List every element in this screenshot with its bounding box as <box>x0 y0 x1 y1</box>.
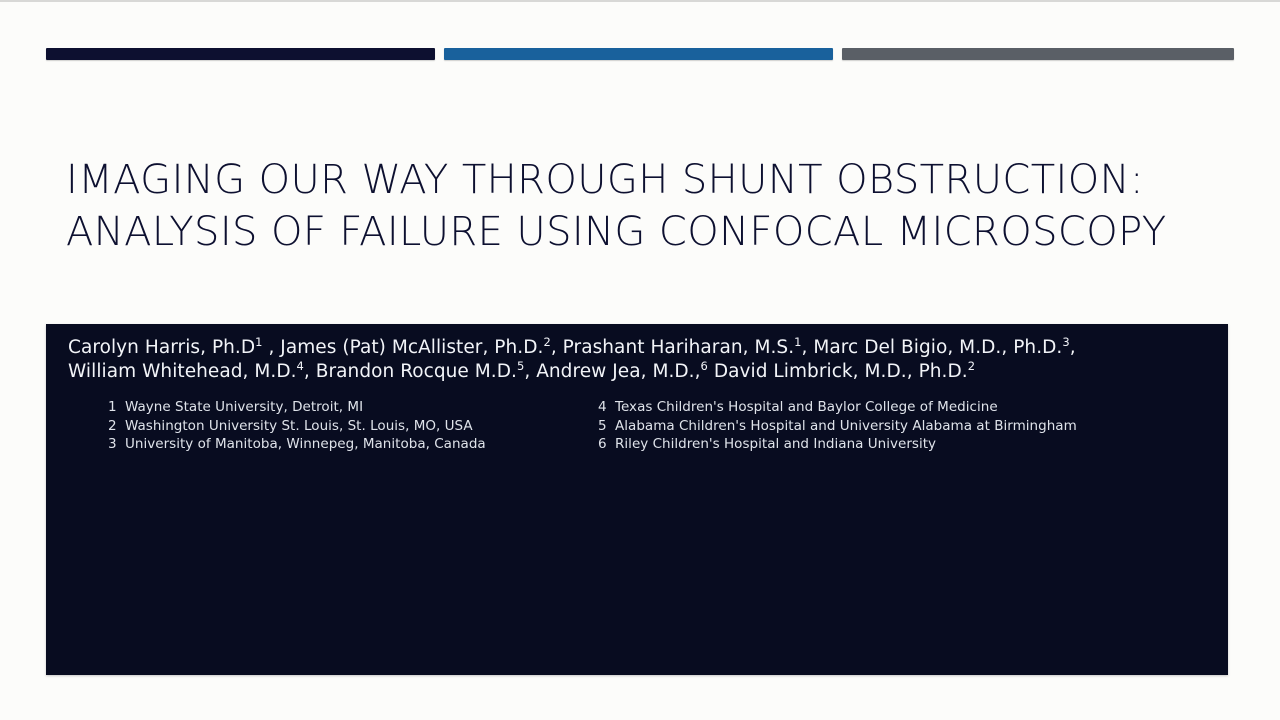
affiliation-text: Washington University St. Louis, St. Lou… <box>125 417 598 436</box>
affiliation-number: 4 <box>598 398 615 417</box>
author-list: Carolyn Harris, Ph.D1 , James (Pat) McAl… <box>68 336 1206 384</box>
affiliation-marker: 6 <box>701 359 708 373</box>
affiliation-number: 6 <box>598 435 615 454</box>
affiliation-marker: 2 <box>543 335 550 349</box>
affiliation-text: Alabama Children's Hospital and Universi… <box>615 417 1158 436</box>
navy-bar <box>46 48 435 60</box>
affiliation-number: 3 <box>108 435 125 454</box>
affiliation-text: Riley Children's Hospital and Indiana Un… <box>615 435 1158 454</box>
list-item: 2 Washington University St. Louis, St. L… <box>108 417 598 436</box>
affiliation-marker: 1 <box>255 335 262 349</box>
affiliation-text: University of Manitoba, Winnepeg, Manito… <box>125 435 598 454</box>
list-item: 1 Wayne State University, Detroit, MI <box>108 398 598 417</box>
affiliation-number: 5 <box>598 417 615 436</box>
affiliation-marker: 3 <box>1062 335 1069 349</box>
decorative-rule-bars <box>46 48 1234 61</box>
author-panel: Carolyn Harris, Ph.D1 , James (Pat) McAl… <box>46 324 1228 675</box>
affiliation-number: 2 <box>108 417 125 436</box>
affiliation-column-left: 1 Wayne State University, Detroit, MI 2 … <box>108 398 598 454</box>
affiliation-text: Texas Children's Hospital and Baylor Col… <box>615 398 1158 417</box>
presentation-slide: IMAGING OUR WAY THROUGH SHUNT OBSTRUCTIO… <box>0 0 1280 720</box>
title-line-1: IMAGING OUR WAY THROUGH SHUNT OBSTRUCTIO… <box>66 154 1216 206</box>
affiliation-marker: 5 <box>517 359 524 373</box>
slide-title: IMAGING OUR WAY THROUGH SHUNT OBSTRUCTIO… <box>66 154 1216 258</box>
affiliation-list: 1 Wayne State University, Detroit, MI 2 … <box>68 398 1206 454</box>
gray-bar <box>842 48 1234 60</box>
list-item: 6 Riley Children's Hospital and Indiana … <box>598 435 1158 454</box>
affiliation-text: Wayne State University, Detroit, MI <box>125 398 598 417</box>
affiliation-marker: 4 <box>297 359 304 373</box>
list-item: 3 University of Manitoba, Winnepeg, Mani… <box>108 435 598 454</box>
affiliation-marker: 2 <box>968 359 975 373</box>
blue-bar <box>444 48 833 60</box>
affiliation-number: 1 <box>108 398 125 417</box>
author-line-2: William Whitehead, M.D.4, Brandon Rocque… <box>68 361 975 382</box>
affiliation-column-right: 4 Texas Children's Hospital and Baylor C… <box>598 398 1158 454</box>
title-line-2: ANALYSIS OF FAILURE USING CONFOCAL MICRO… <box>66 206 1216 258</box>
affiliation-marker: 1 <box>794 335 801 349</box>
list-item: 5 Alabama Children's Hospital and Univer… <box>598 417 1158 436</box>
author-line-1: Carolyn Harris, Ph.D1 , James (Pat) McAl… <box>68 337 1076 358</box>
list-item: 4 Texas Children's Hospital and Baylor C… <box>598 398 1158 417</box>
